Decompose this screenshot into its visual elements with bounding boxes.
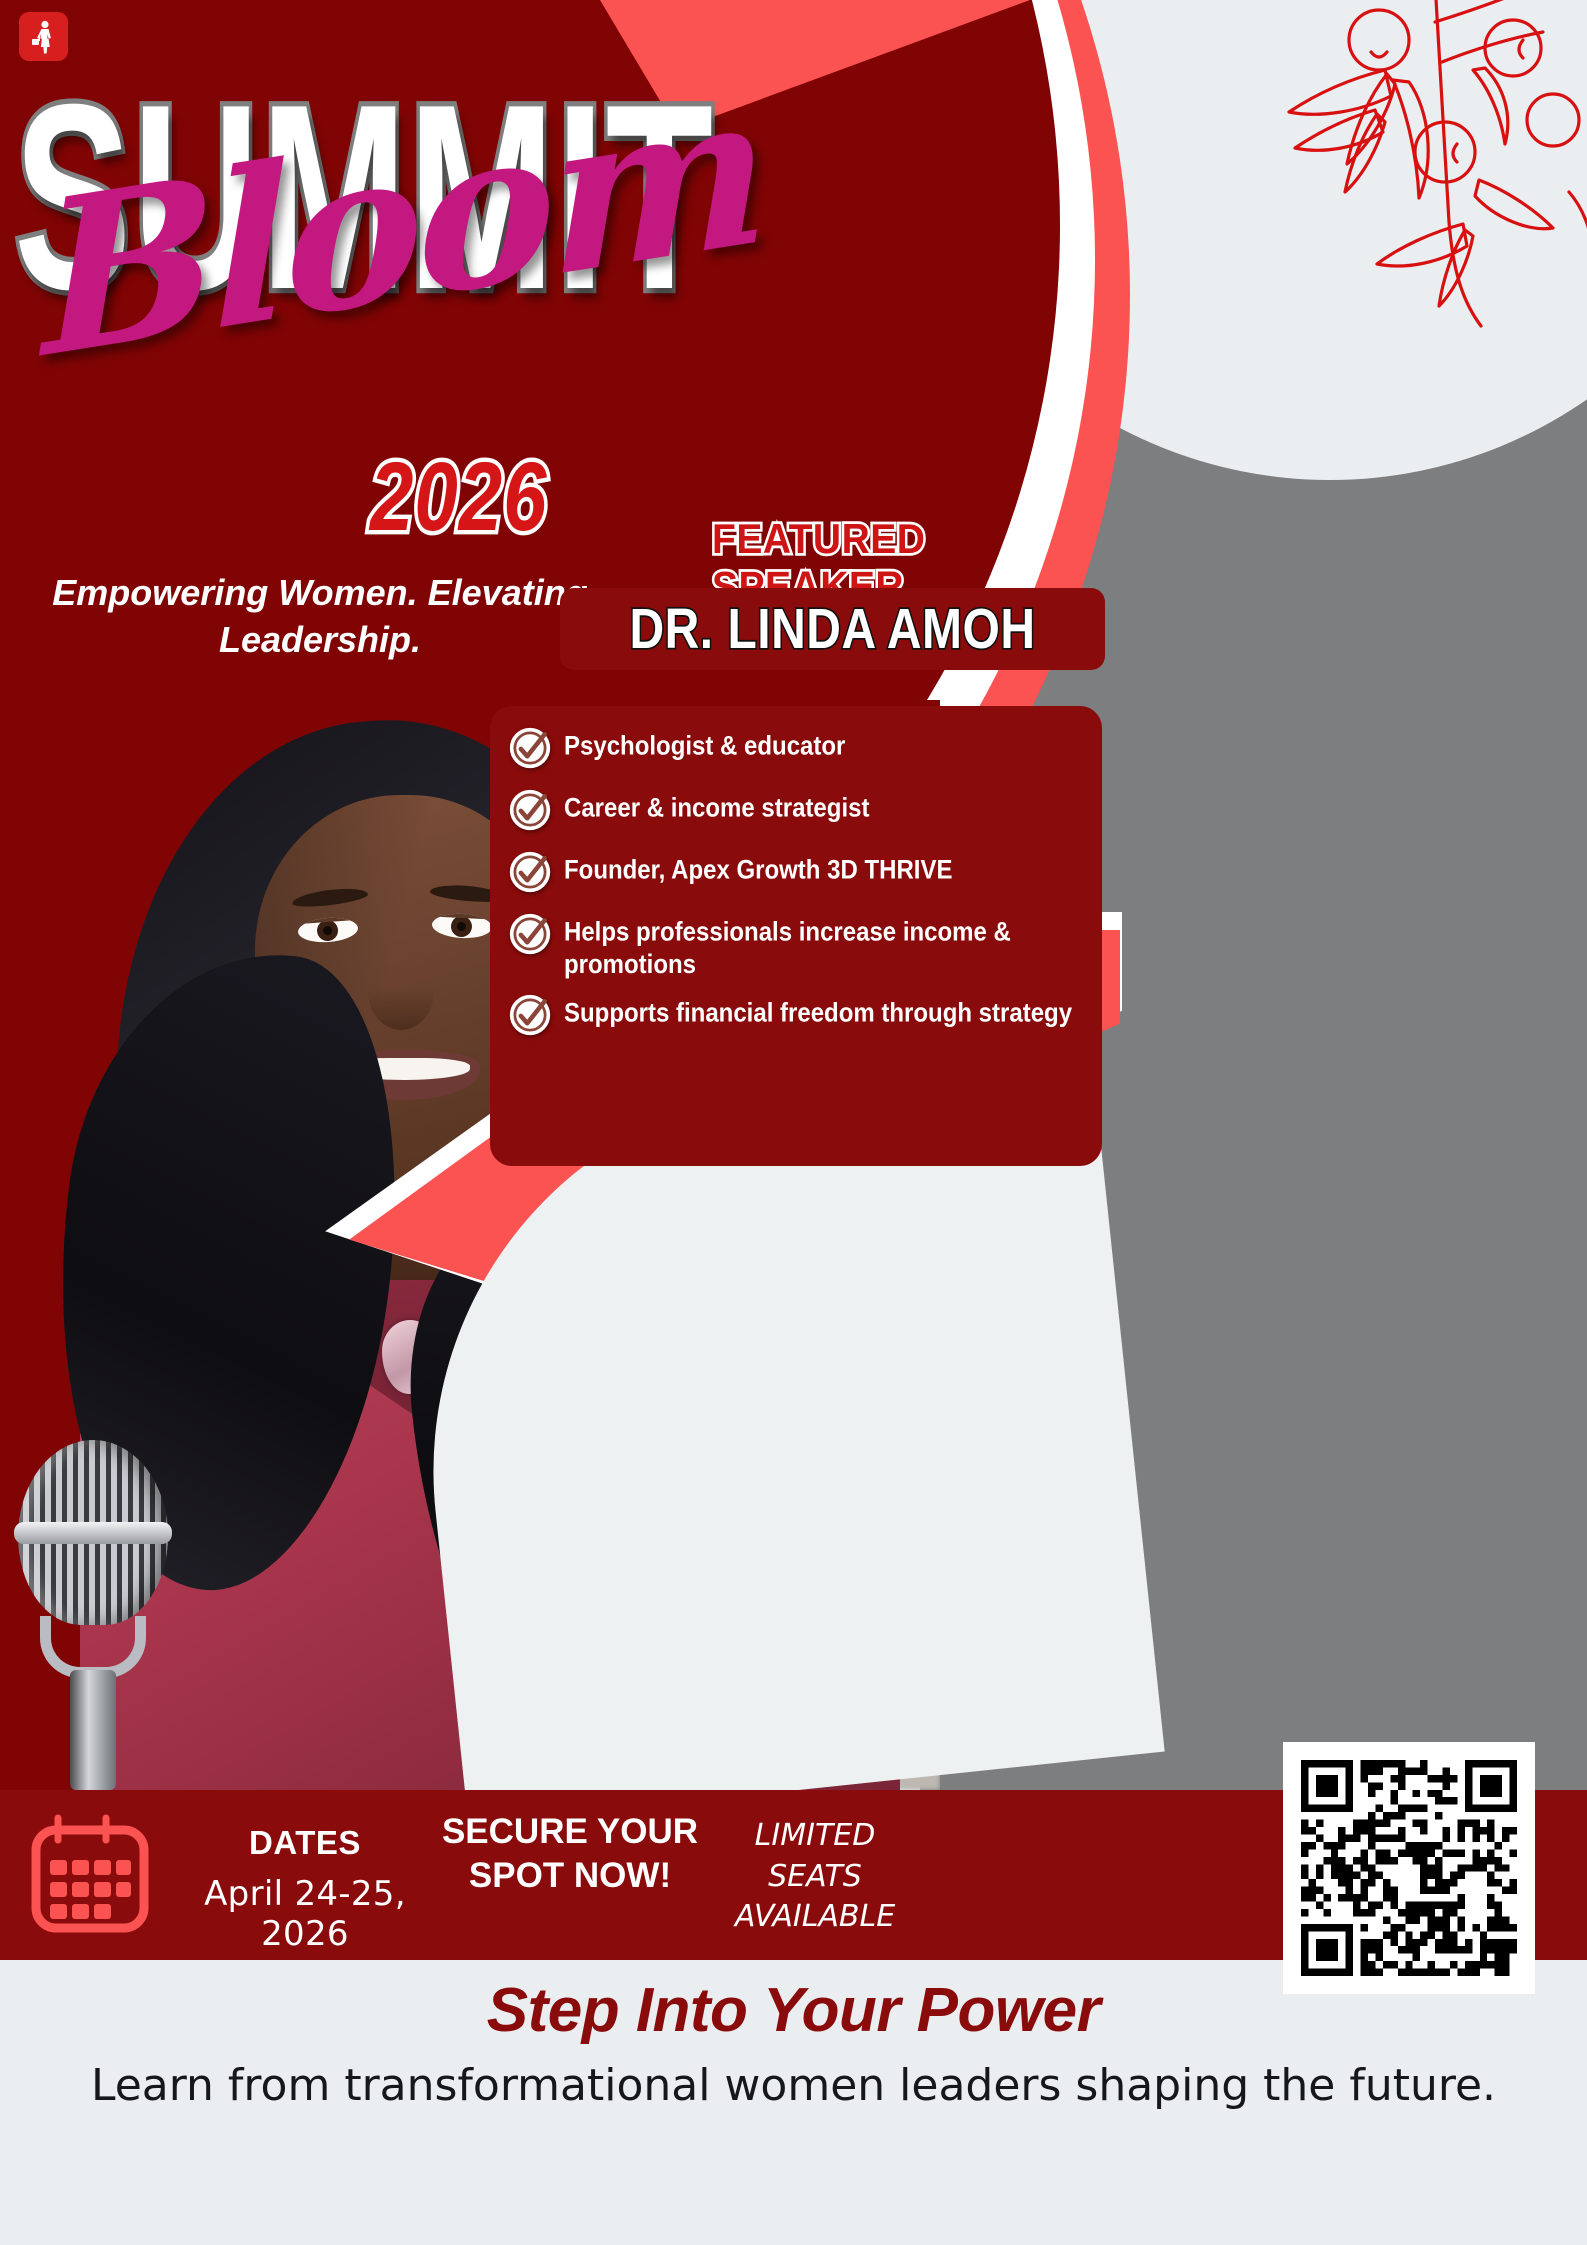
check-circle-icon (508, 993, 552, 1037)
check-circle-icon (508, 788, 552, 832)
title-block: SUMMIT Bloom 2026 Empowering Women. Elev… (0, 90, 780, 234)
credential-item: Helps professionals increase income & pr… (508, 916, 1084, 975)
limited-seats-note: LIMITED SEATS AVAILABLE (720, 1816, 910, 1938)
check-circle-icon (508, 850, 552, 894)
check-circle-icon (508, 726, 552, 770)
speaker-name-banner: DR. LINDA AMOH (560, 588, 1105, 670)
credential-item: Supports financial freedom through strat… (508, 997, 1084, 1037)
event-poster: SUMMIT Bloom 2026 Empowering Women. Elev… (0, 0, 1587, 2245)
credential-text: Helps professionals increase income & pr… (564, 916, 1084, 982)
year-label: 2026 (370, 440, 548, 554)
dates-label: DATES (170, 1824, 440, 1862)
credentials-card: Psychologist & educator Career & income … (490, 706, 1102, 1166)
tagline: Empowering Women. Elevating Leadership. (50, 570, 590, 664)
calendar-icon (30, 1812, 150, 1934)
footer-headline: Step Into Your Power (0, 1975, 1587, 2046)
floral-branch-decoration (1267, 0, 1587, 332)
qr-code[interactable] (1283, 1742, 1535, 1994)
credential-text: Career & income strategist (564, 792, 869, 825)
footer-block: Step Into Your Power Learn from transfor… (0, 1975, 1587, 2115)
credential-item: Founder, Apex Growth 3D THRIVE (508, 854, 1084, 894)
credential-item: Career & income strategist (508, 792, 1084, 832)
microphone-icon (10, 1440, 180, 1790)
cta-text[interactable]: SECURE YOUR SPOT NOW! (430, 1810, 710, 1898)
credential-item: Psychologist & educator (508, 730, 1084, 770)
check-circle-icon (508, 912, 552, 956)
credential-text: Founder, Apex Growth 3D THRIVE (564, 854, 952, 887)
dates-block: DATES April 24-25, 2026 (170, 1824, 440, 1954)
credential-text: Supports financial freedom through strat… (564, 997, 1072, 1030)
speaker-name: DR. LINDA AMOH (629, 597, 1035, 662)
nose (368, 952, 434, 1030)
dates-value: April 24-25, 2026 (170, 1874, 440, 1954)
woman-professional-icon (31, 20, 57, 54)
footer-subtext: Learn from transformational women leader… (0, 2056, 1587, 2115)
credential-text: Psychologist & educator (564, 730, 845, 763)
qr-code-image (1301, 1760, 1517, 1976)
